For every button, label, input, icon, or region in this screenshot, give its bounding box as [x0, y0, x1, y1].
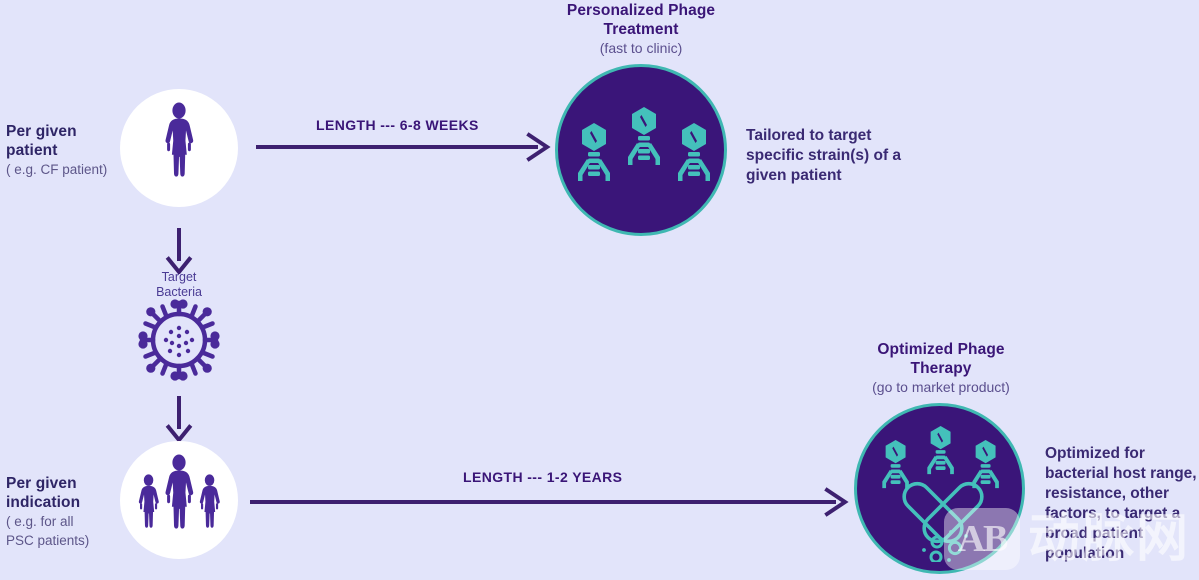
per-given-indication-title-line2: indication — [6, 493, 118, 512]
target-bacteria-label: Target Bacteria — [128, 270, 230, 299]
flow-2-note: Optimized for bacterial host range, resi… — [1045, 444, 1199, 564]
optimized-phage-circle — [854, 403, 1025, 574]
flow-1-title-line1: Personalized Phage — [524, 2, 758, 21]
flow-1-target-title: Personalized Phage Treatment (fast to cl… — [524, 2, 758, 57]
flow-2-target-title: Optimized Phage Therapy (go to market pr… — [824, 341, 1058, 396]
flow-1-title-line2: Treatment — [524, 21, 758, 40]
per-given-patient-title-line1: Per given — [6, 122, 118, 141]
flow-2-note-line3: resistance, other — [1045, 484, 1199, 504]
personalized-phage-circle — [555, 64, 727, 236]
single-patient-circle — [120, 89, 238, 207]
per-given-indication-subtitle-line2: PSC patients) — [6, 531, 118, 550]
flow-1-subtitle: (fast to clinic) — [524, 39, 758, 57]
per-given-indication-label: Per given indication ( e.g. for all PSC … — [6, 474, 118, 550]
flow-1-note: Tailored to target specific strain(s) of… — [746, 126, 926, 186]
flow-1-arrow — [256, 130, 551, 164]
bacteria-icon — [137, 298, 221, 382]
diagram-canvas: Per given patient ( e.g. CF patient) Tar… — [0, 0, 1199, 580]
flow-1-note-line3: given patient — [746, 166, 926, 186]
arrow-down-to-indication — [160, 396, 198, 442]
group-of-people-icon — [129, 454, 229, 546]
per-given-indication-subtitle-line1: ( e.g. for all — [6, 512, 118, 531]
flow-2-title-line1: Optimized Phage — [824, 341, 1058, 360]
flow-2-note-line2: bacterial host range, — [1045, 464, 1199, 484]
flow-2-note-line6: population — [1045, 544, 1199, 564]
phage-trio-icon — [574, 107, 714, 197]
flow-1-note-line1: Tailored to target — [746, 126, 926, 146]
flow-2-note-line5: broad patient — [1045, 524, 1199, 544]
per-given-patient-title-line2: patient — [6, 141, 118, 160]
flow-2-subtitle: (go to market product) — [824, 378, 1058, 396]
per-given-patient-label: Per given patient ( e.g. CF patient) — [6, 122, 118, 179]
arrow-down-to-bacteria — [160, 228, 198, 274]
flow-2-note-line4: factors, to target a — [1045, 504, 1199, 524]
patient-population-circle — [120, 441, 238, 559]
single-person-icon — [156, 102, 202, 194]
flow-2-note-line1: Optimized for — [1045, 444, 1199, 464]
target-bacteria-line2: Bacteria — [128, 285, 230, 300]
phage-trio-with-capsules-icon — [879, 426, 1007, 562]
flow-2-arrow-label: LENGTH --- 1-2 YEARS — [463, 469, 622, 485]
target-bacteria-line1: Target — [128, 270, 230, 285]
per-given-indication-title-line1: Per given — [6, 474, 118, 493]
flow-2-title-line2: Therapy — [824, 360, 1058, 379]
per-given-patient-subtitle: ( e.g. CF patient) — [6, 160, 118, 179]
flow-1-note-line2: specific strain(s) of a — [746, 146, 926, 166]
flow-2-arrow — [250, 485, 850, 519]
